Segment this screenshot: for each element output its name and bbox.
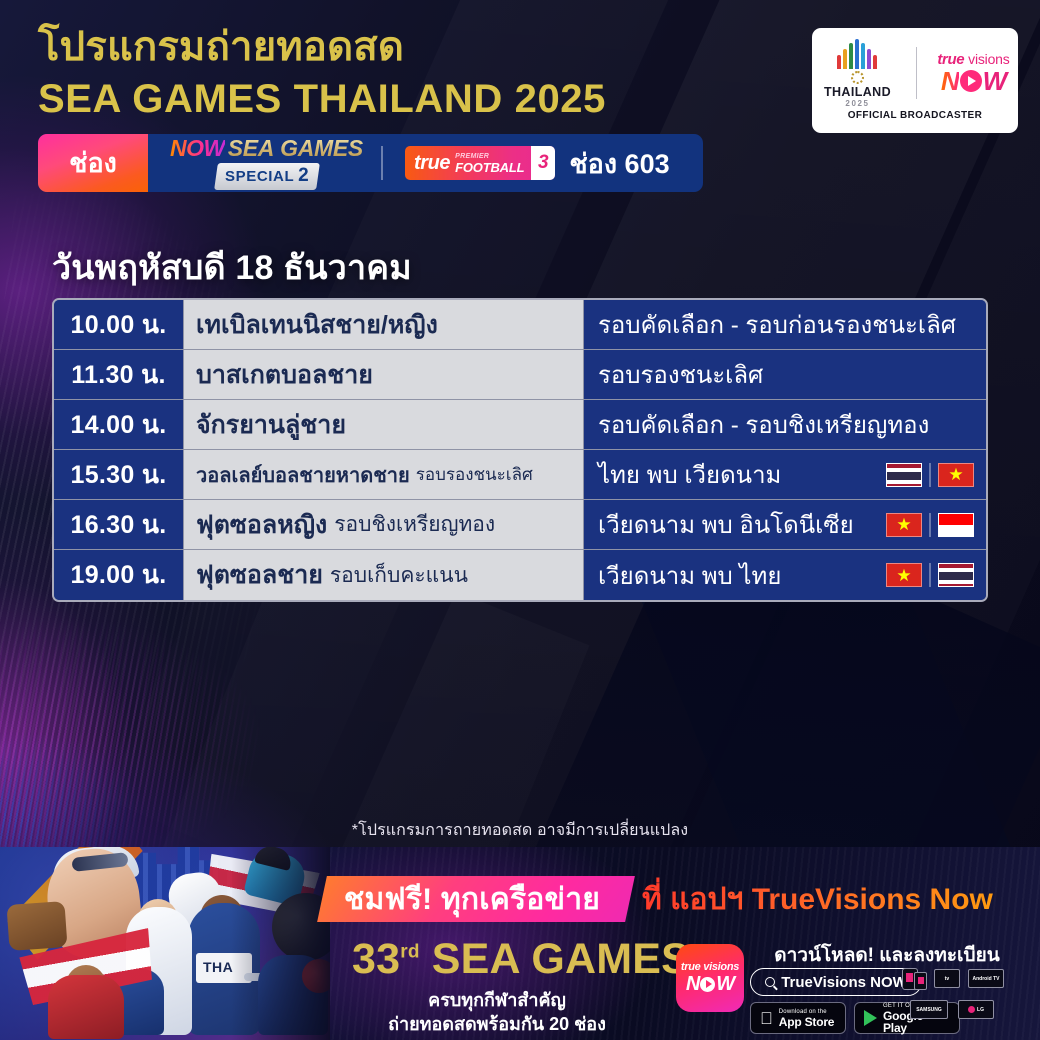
official-broadcaster-logos: THAILAND 2025 true visions N W [811, 40, 1020, 106]
schedule-detail-text: ไทย พบ เวียดนาม [598, 455, 781, 494]
download-heading: ดาวน์โหลด! และลงทะเบียน [752, 940, 1022, 970]
page-title-thai: โปรแกรมถ่ายทอดสด [38, 26, 404, 68]
lg-tv-label: LG [977, 1007, 984, 1013]
flag-vietnam: ★ [886, 563, 922, 587]
schedule-event-name: เทเบิลเทนนิสชาย/หญิง [196, 305, 438, 345]
special-label: SPECIAL [225, 168, 294, 185]
true-premier-football-block: true PREMIER FOOTBALL 3 ช่อง 603 [383, 134, 686, 192]
free-watch-pill: ชมฟรี! ทุกเครือข่าย [317, 876, 635, 922]
disclaimer-text: *โปรแกรมการถายทอดสด อาจมีการเปลี่ยนแปลง [0, 818, 1040, 843]
schedule-detail-text: เวียดนาม พบ ไทย [598, 556, 781, 595]
schedule-event-round: รอบชิงเหรียญทอง [334, 508, 495, 541]
schedule-row: 14.00 น.จักรยานลู่ชายรอบคัดเลือก - รอบชิ… [54, 400, 986, 450]
samsung-tv-label: SAMSUNG [916, 1007, 942, 1013]
schedule-event-round: รอบรองชนะเลิศ [416, 461, 533, 488]
special-number: 2 [298, 165, 309, 187]
schedule-row: 19.00 น.ฟุตซอลชายรอบเก็บคะแนนเวียดนาม พบ… [54, 550, 986, 600]
schedule-row: 15.30 น.วอลเลย์บอลชายหาดชายรอบรองชนะเลิศ… [54, 450, 986, 500]
truevisions-now-app-icon[interactable]: true visions N W [676, 944, 744, 1012]
app-icon-now: N W [686, 974, 734, 994]
flag-thailand [938, 563, 974, 587]
schedule-event: บาสเกตบอลชาย [184, 350, 584, 399]
games-word: GAMES [280, 137, 363, 160]
apple-icon:  [760, 1010, 773, 1027]
flag-vietnam: ★ [938, 463, 974, 487]
schedule-event-name: ฟุตซอลหญิง [196, 505, 327, 545]
date-heading: วันพฤหัสบดี 18 ธันวาคม [52, 240, 412, 294]
schedule-event: เทเบิลเทนนิสชาย/หญิง [184, 300, 584, 349]
samsung-tv-icon: SAMSUNG [910, 1000, 948, 1019]
truevisions-wordmark: true visions [937, 52, 1009, 67]
schedule-detail: รอบรองชนะเลิศ [584, 350, 986, 399]
channel-badge: ช่อง [38, 134, 148, 192]
schedule-time: 19.00 น. [54, 550, 184, 600]
schedule-row: 16.30 น.ฟุตซอลหญิงรอบชิงเหรียญทองเวียดนา… [54, 500, 986, 550]
schedule-time: 15.30 น. [54, 450, 184, 499]
schedule-detail-text: รอบคัดเลือก - รอบก่อนรองชนะเลิศ [598, 305, 956, 344]
sea-games-number: 33 [352, 935, 400, 983]
schedule-time: 10.00 น. [54, 300, 184, 349]
thailand-year: 2025 [845, 99, 869, 108]
app-promo-label: ที่ แอปฯ TrueVisions Now [642, 877, 993, 921]
flag-separator [929, 513, 931, 537]
sea-games-edition: 33rd SEA GAMES [352, 938, 642, 981]
android-tv-icon: Android TV [968, 969, 1004, 988]
thailand-label: THAILAND [824, 85, 891, 99]
now-wordmark: N W [941, 68, 1006, 94]
athletes-collage-image [0, 847, 330, 1040]
special-tag: SPECIAL 2 [214, 163, 320, 190]
schedule-detail: รอบคัดเลือก - รอบก่อนรองชนะเลิศ [584, 300, 986, 349]
android-tv-label: Android TV [973, 976, 1000, 982]
schedule-detail: เวียดนาม พบ ไทย★ [584, 550, 986, 600]
truevisions-now-logo: true visions N W [928, 52, 1020, 94]
flag-separator [929, 463, 931, 487]
schedule-table: 10.00 น.เทเบิลเทนนิสชาย/หญิงรอบคัดเลือก … [52, 298, 988, 602]
header: โปรแกรมถ่ายทอดสด SEA GAMES THAILAND 2025… [0, 0, 1040, 205]
flag-indonesia [938, 513, 974, 537]
lg-tv-icon: LG [958, 1000, 994, 1019]
schedule-detail: เวียดนาม พบ อินโดนีเซีย★ [584, 500, 986, 549]
schedule-detail: รอบคัดเลือก - รอบชิงเหรียญทอง [584, 400, 986, 449]
flag-pair: ★ [886, 563, 974, 587]
schedule-event-round: รอบเก็บคะแนน [330, 559, 468, 592]
sea-games-subtext: ครบทุกกีฬาสำคัญ ถ่ายทอดสดพร้อมกัน 20 ช่อ… [352, 988, 642, 1037]
tablet-icon [914, 972, 927, 990]
sea-games-subtext-line2: ถ่ายทอดสดพร้อมกัน 20 ช่อง [352, 1012, 642, 1036]
now-word: NOW [170, 137, 225, 160]
sea-word: SEA [228, 137, 274, 160]
schedule-detail-text: รอบรองชนะเลิศ [598, 355, 763, 394]
free-watch-label: ชมฟรี! ทุกเครือข่าย [344, 876, 600, 923]
schedule-event-name: วอลเลย์บอลชายหาดชาย [196, 459, 410, 491]
app-icon-letter-n: N [686, 974, 699, 994]
truevisions-visions: visions [968, 52, 1009, 66]
true-word: true [414, 152, 450, 175]
official-broadcaster-label: OFFICIAL BROADCASTER [848, 110, 982, 121]
official-card-divider [916, 47, 917, 99]
app-store-small-label: Download on the [779, 1009, 835, 1015]
sea-games-subtext-line1: ครบทุกกีฬาสำคัญ [352, 988, 642, 1012]
search-app-pill[interactable]: TrueVisions NOW [750, 968, 922, 996]
schedule-event-name: จักรยานลู่ชาย [196, 405, 346, 445]
search-icon [765, 977, 775, 987]
schedule-event: วอลเลย์บอลชายหาดชายรอบรองชนะเลิศ [184, 450, 584, 499]
play-circle-icon [960, 70, 982, 92]
now-sea-games-logo: NOW SEA GAMES SPECIAL 2 [148, 134, 381, 192]
poster-root: โปรแกรมถ่ายทอดสด SEA GAMES THAILAND 2025… [0, 0, 1040, 1040]
app-icon-true-visions: true visions [681, 962, 739, 973]
apple-tv-icon: tv [934, 969, 960, 988]
now-letter-w: W [983, 68, 1007, 94]
channel-number-label: ช่อง 603 [569, 142, 669, 185]
flag-pair: ★ [886, 513, 974, 537]
app-icon-play-circle-icon [700, 977, 715, 992]
supported-devices-icons: tv Android TV SAMSUNG LG [902, 968, 1020, 1030]
premier-football-text: PREMIER FOOTBALL [455, 153, 524, 174]
schedule-time: 16.30 น. [54, 500, 184, 549]
flag-thailand [886, 463, 922, 487]
flag-pair: ★ [886, 463, 974, 487]
schedule-time: 11.30 น. [54, 350, 184, 399]
schedule-event-name: ฟุตซอลชาย [196, 555, 323, 595]
now-letter-n: N [941, 68, 959, 94]
sun-emblem-icon [851, 71, 864, 84]
schedule-event-name: บาสเกตบอลชาย [196, 355, 373, 395]
app-store-text: Download on the App Store [779, 1009, 835, 1028]
schedule-row: 11.30 น.บาสเกตบอลชายรอบรองชนะเลิศ [54, 350, 986, 400]
apple-tv-label: tv [945, 976, 949, 982]
true-premier-football-logo: true PREMIER FOOTBALL 3 [405, 146, 555, 180]
thailand-emblem-icon [833, 39, 883, 69]
premier-word: PREMIER [455, 153, 524, 160]
schedule-detail-text: เวียดนาม พบ อินโดนีเซีย [598, 505, 854, 544]
schedule-time: 14.00 น. [54, 400, 184, 449]
app-icon-letter-w: W [716, 974, 734, 994]
schedule-event: จักรยานลู่ชาย [184, 400, 584, 449]
truevisions-true: true [937, 52, 964, 67]
flag-vietnam: ★ [886, 513, 922, 537]
thailand-2025-logo: THAILAND 2025 [811, 39, 905, 108]
football-channel-number: 3 [531, 146, 555, 180]
search-app-label: TrueVisions NOW [781, 974, 907, 991]
page-title-english: SEA GAMES THAILAND 2025 [38, 78, 606, 120]
official-broadcaster-card: THAILAND 2025 true visions N W OFFIC [812, 28, 1018, 133]
app-store-button[interactable]:  Download on the App Store [750, 1002, 846, 1034]
football-word: FOOTBALL [455, 161, 524, 174]
schedule-event: ฟุตซอลหญิงรอบชิงเหรียญทอง [184, 500, 584, 549]
app-store-big-label: App Store [779, 1016, 835, 1028]
schedule-detail-text: รอบคัดเลือก - รอบชิงเหรียญทอง [598, 405, 929, 444]
google-play-icon [864, 1010, 877, 1026]
flag-separator [929, 563, 931, 587]
now-sea-games-wordmark: NOW SEA GAMES [170, 137, 363, 160]
sea-games-ordinal: rd [400, 942, 419, 963]
channel-bar: ช่อง NOW SEA GAMES SPECIAL 2 true [38, 134, 703, 192]
channel-badge-label: ช่อง [69, 150, 117, 177]
lg-dot-icon [968, 1006, 975, 1013]
schedule-row: 10.00 น.เทเบิลเทนนิสชาย/หญิงรอบคัดเลือก … [54, 300, 986, 350]
schedule-detail: ไทย พบ เวียดนาม★ [584, 450, 986, 499]
sea-games-label: SEA GAMES [432, 935, 690, 983]
schedule-event: ฟุตซอลชายรอบเก็บคะแนน [184, 550, 584, 600]
